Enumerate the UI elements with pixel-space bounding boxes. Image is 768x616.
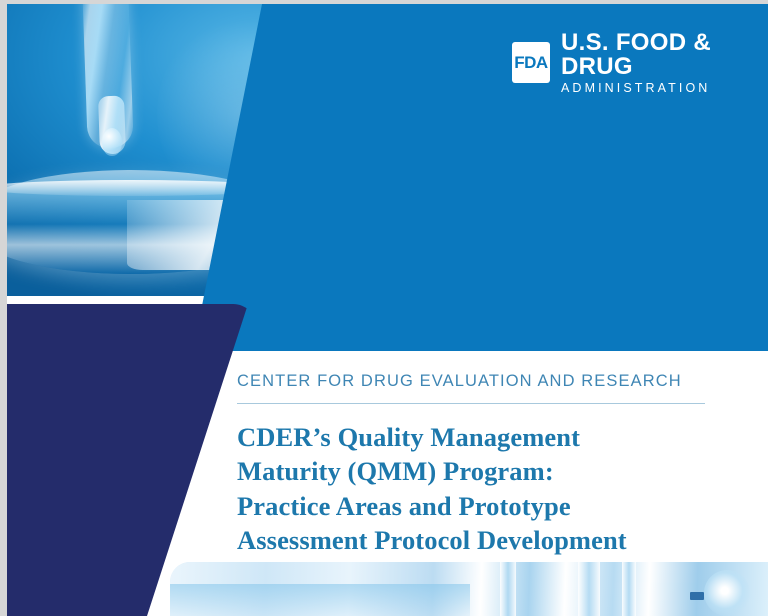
document-title-line-4: Assessment Protocol Development: [237, 523, 715, 557]
liquid-droplet: [102, 128, 122, 156]
document-cover-page: FDA U.S. FOOD & DRUG ADMINISTRATION CENT…: [0, 0, 768, 616]
fda-wordmark-line-1: U.S. FOOD & DRUG: [561, 31, 768, 79]
fda-wordmark-line-2: ADMINISTRATION: [561, 82, 768, 95]
fda-logo-mark-text: FDA: [514, 54, 547, 71]
fda-logo-mark-icon: FDA: [512, 42, 550, 83]
bottom-photo-column-1: [500, 562, 516, 616]
cover-text-block: CENTER FOR DRUG EVALUATION AND RESEARCH …: [237, 372, 715, 558]
bottom-photo-control-panel: [690, 592, 704, 600]
bottom-photo-column-3: [622, 562, 636, 616]
title-divider-rule: [237, 403, 705, 404]
fda-logo-lockup: FDA U.S. FOOD & DRUG ADMINISTRATION: [512, 31, 768, 95]
document-title: CDER’s Quality Management Maturity (QMM)…: [237, 420, 715, 558]
bottom-photo-lab-equipment: [170, 562, 768, 616]
page-sheet: FDA U.S. FOOD & DRUG ADMINISTRATION CENT…: [7, 4, 768, 616]
bottom-photo-shade: [170, 584, 470, 616]
bottom-photo-lamp-glow: [704, 570, 750, 616]
bottom-photo-column-2: [578, 562, 600, 616]
fda-logo-wordmark: U.S. FOOD & DRUG ADMINISTRATION: [561, 31, 768, 95]
document-title-line-2: Maturity (QMM) Program:: [237, 454, 715, 488]
document-title-line-3: Practice Areas and Prototype: [237, 489, 715, 523]
center-name-eyebrow: CENTER FOR DRUG EVALUATION AND RESEARCH: [237, 372, 715, 391]
document-title-line-1: CDER’s Quality Management: [237, 420, 715, 454]
